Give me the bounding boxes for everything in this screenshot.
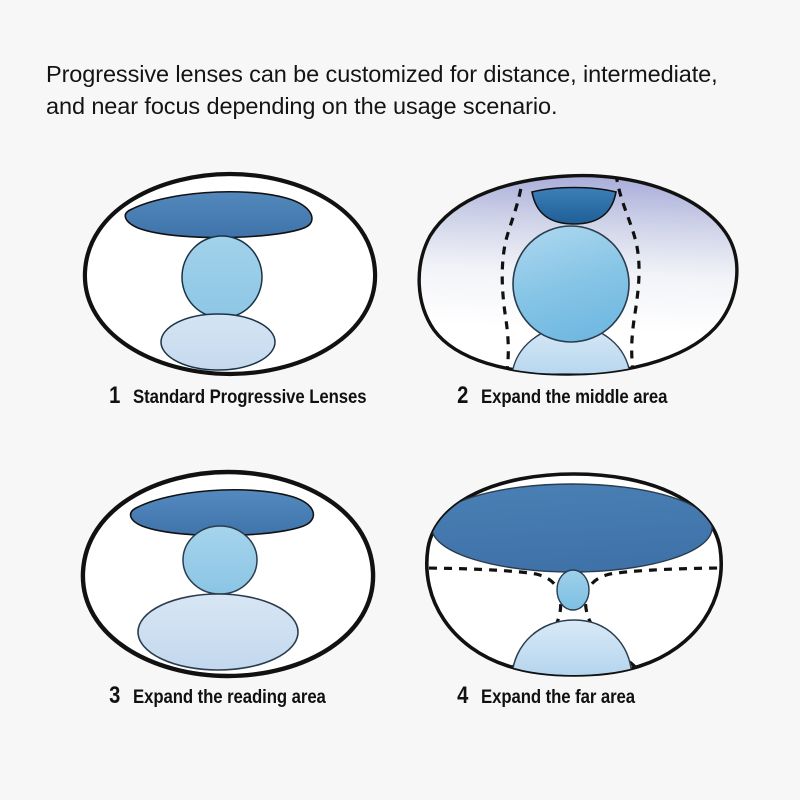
caption-number: 3 bbox=[109, 684, 120, 708]
caption-3: 3 Expand the reading area bbox=[60, 684, 448, 708]
panel-expand-far-area: 4 Expand the far area bbox=[408, 462, 748, 747]
caption-label: Standard Progressive Lenses bbox=[133, 388, 366, 408]
panel-expand-middle-area: 2 Expand the middle area bbox=[408, 162, 748, 447]
caption-number: 1 bbox=[109, 384, 120, 408]
lens-diagram-4 bbox=[408, 462, 748, 694]
caption-label: Expand the reading area bbox=[133, 688, 326, 708]
caption-1: 1 Standard Progressive Lenses bbox=[60, 384, 448, 408]
intermediate-zone bbox=[182, 236, 262, 318]
reading-zone bbox=[161, 314, 275, 370]
caption-label: Expand the far area bbox=[481, 688, 635, 708]
intermediate-zone bbox=[183, 526, 257, 594]
reading-zone bbox=[138, 594, 298, 670]
caption-label: Expand the middle area bbox=[481, 388, 667, 408]
caption-4: 4 Expand the far area bbox=[408, 684, 796, 708]
lens-diagram-1 bbox=[60, 162, 400, 394]
lens-diagram-3 bbox=[60, 462, 400, 694]
distance-zone bbox=[432, 484, 712, 572]
intermediate-zone bbox=[513, 226, 629, 342]
caption-number: 4 bbox=[457, 684, 468, 708]
page-title: Progressive lenses can be customized for… bbox=[46, 58, 762, 122]
panel-expand-reading-area: 3 Expand the reading area bbox=[60, 462, 400, 747]
lens-infographic: Progressive lenses can be customized for… bbox=[0, 0, 800, 800]
lens-diagram-2 bbox=[408, 162, 748, 394]
intermediate-zone bbox=[557, 570, 589, 610]
caption-2: 2 Expand the middle area bbox=[408, 384, 796, 408]
panel-standard-progressive-lenses: 1 Standard Progressive Lenses bbox=[60, 162, 400, 447]
caption-number: 2 bbox=[457, 384, 468, 408]
